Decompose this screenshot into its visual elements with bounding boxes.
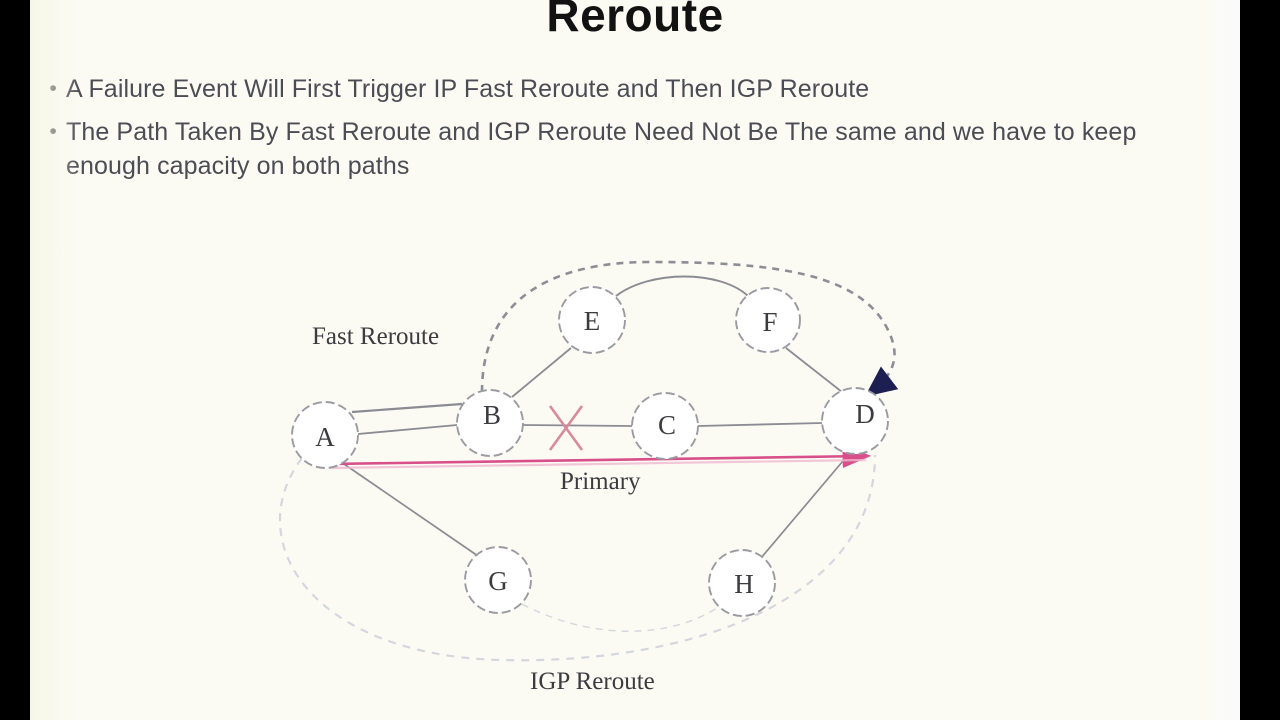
fast-reroute-label: Fast Reroute [312,323,439,350]
letterbox-left [0,0,30,720]
slide-screenshot: Reroute • A Failure Event Will First Tri… [0,0,1280,720]
letterbox-right [1240,0,1280,720]
node-label-G: G [488,566,508,596]
node-label-H: H [734,569,754,599]
fast-reroute-path [482,262,894,392]
node-A[interactable]: A [292,402,358,468]
node-label-A: A [315,422,335,452]
link-failure-x-icon [550,406,582,450]
node-B[interactable]: B [457,390,523,456]
node-label-E: E [584,306,601,336]
node-label-F: F [762,307,777,337]
primary-label: Primary [560,468,641,495]
node-label-C: C [658,410,676,440]
node-label-B: B [483,400,501,430]
primary-path [330,456,866,468]
node-D[interactable]: D [822,388,888,454]
node-G[interactable]: G [465,547,531,613]
presentation-slide: Reroute • A Failure Event Will First Tri… [30,0,1240,720]
node-C[interactable]: C [632,393,698,459]
node-label-D: D [855,399,875,429]
network-topology-diagram: A B C D E [30,0,1240,720]
node-H[interactable]: H [709,550,775,616]
igp-reroute-label: IGP Reroute [530,668,655,695]
node-F[interactable]: F [736,288,800,352]
node-E[interactable]: E [559,287,625,353]
